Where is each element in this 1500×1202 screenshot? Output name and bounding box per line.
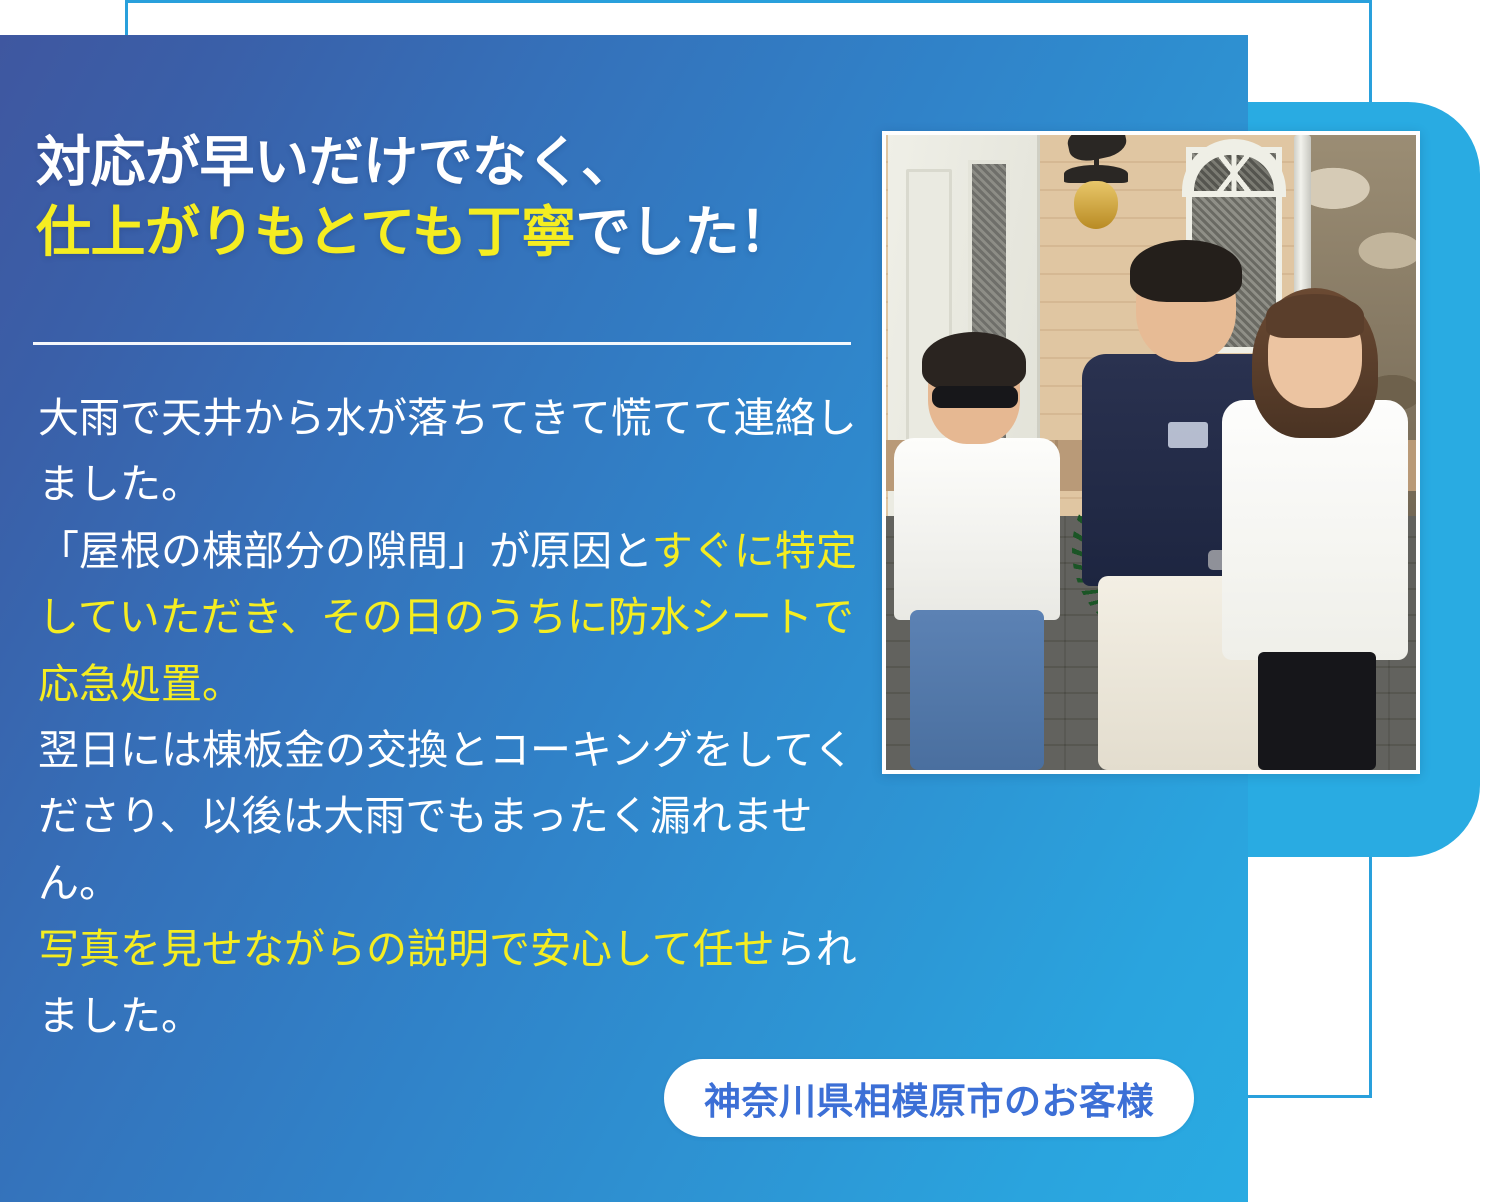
customer-photo — [882, 131, 1420, 774]
customer-location-badge: 神奈川県相模原市のお客様 — [664, 1059, 1194, 1137]
headline-line-1: 対応が早いだけでなく、 — [36, 131, 636, 193]
body-p1-text: 大雨で天井から水が落ちてきて慌てて連絡しました。 — [38, 395, 857, 507]
sunglasses-icon — [932, 386, 1018, 408]
testimonial-banner: 対応が早いだけでなく、 仕上がりもとても丁寧でした！ 大雨で天井から水が落ちてき… — [0, 0, 1500, 1202]
person-right-customer — [1222, 300, 1408, 770]
left-person-shirt — [894, 438, 1060, 620]
right-person-hair-front — [1266, 294, 1364, 338]
company-logo-on-shirt — [1168, 422, 1208, 448]
body-paragraph-2: 「屋根の棟部分の隙間」が原因とすぐに特定していただき、その日のうちに防水シートで… — [38, 518, 858, 717]
lamp-rod — [1094, 135, 1099, 169]
headline-line-2-rest: でした！ — [576, 201, 794, 263]
customer-location-label: 神奈川県相模原市のお客様 — [704, 1071, 1154, 1125]
body-p4-highlight: 写真を見せながらの説明で安心して任せ — [38, 926, 775, 972]
body-paragraph-3: 翌日には棟板金の交換とコーキングをしてくださり、以後は大雨でもまったく漏れません… — [38, 717, 858, 916]
left-person-jeans — [910, 610, 1044, 770]
body-paragraph-1: 大雨で天井から水が落ちてきて慌てて連絡しました。 — [38, 385, 858, 518]
person-left-customer — [894, 340, 1060, 770]
center-person-hair — [1130, 240, 1242, 302]
headline-line-2-highlight: 仕上がりもとても丁寧 — [36, 201, 576, 263]
body-paragraph-4: 写真を見せながらの説明で安心して任せられました。 — [38, 916, 858, 1049]
right-person-pants — [1258, 652, 1376, 770]
left-person-hair — [922, 332, 1026, 392]
headline: 対応が早いだけでなく、 仕上がりもとても丁寧でした！ — [36, 127, 866, 268]
body-p2-text: 「屋根の棟部分の隙間」が原因と — [38, 528, 652, 574]
body-p3-text: 翌日には棟板金の交換とコーキングをしてくださり、以後は大雨でもまったく漏れません… — [38, 727, 854, 906]
headline-divider — [33, 342, 851, 345]
lamp-glass — [1074, 181, 1118, 229]
right-person-blouse — [1222, 400, 1408, 660]
testimonial-body: 大雨で天井から水が落ちてきて慌てて連絡しました。 「屋根の棟部分の隙間」が原因と… — [38, 385, 858, 1049]
customer-photo-image — [886, 135, 1416, 770]
